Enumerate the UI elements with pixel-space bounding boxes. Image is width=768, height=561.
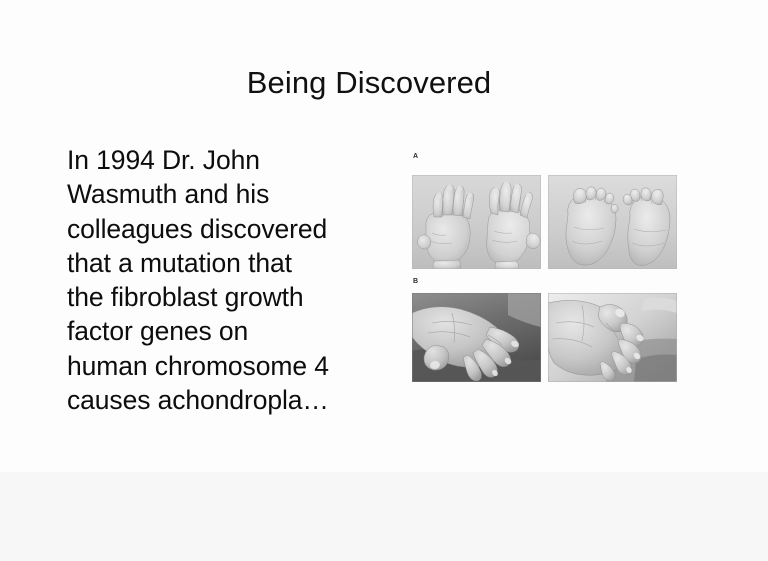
figure-photo-hand-closeup: [412, 293, 541, 382]
photo-hand-closeup-graphic: [412, 293, 541, 382]
figure-photo-feet-short-toes: [548, 175, 677, 269]
slide-title: Being Discovered: [0, 64, 738, 102]
photo-foot-closeup-graphic: [548, 293, 677, 382]
body-line: factor genes on: [67, 314, 387, 348]
body-line: colleagues discovered: [67, 212, 387, 246]
figure-photo-foot-closeup: [548, 293, 677, 382]
figure-row-label-b: B: [413, 278, 418, 286]
figure-row-label-a: A: [413, 153, 418, 161]
figure-row-b-panels: [412, 293, 677, 382]
figure-row-a-panels: [412, 175, 677, 269]
body-line: causes achondropla…: [67, 383, 387, 417]
figure-plate: A: [412, 150, 677, 383]
slide-canvas: Being Discovered In 1994 Dr. John Wasmut…: [0, 0, 768, 561]
figure-row-a: A: [412, 153, 677, 269]
figure-photo-hands-open-palms: [412, 175, 541, 269]
figure-row-b: B: [412, 278, 677, 388]
slide-body-text: In 1994 Dr. John Wasmuth and his colleag…: [67, 143, 387, 417]
body-line: In 1994 Dr. John: [67, 143, 387, 177]
photo-feet-short-toes-graphic: [548, 175, 677, 269]
slide-background-lower: [0, 472, 768, 561]
body-line: human chromosome 4: [67, 349, 387, 383]
photo-hands-open-palms-graphic: [412, 175, 541, 269]
body-line: the fibroblast growth: [67, 280, 387, 314]
body-line: Wasmuth and his: [67, 177, 387, 211]
body-line: that a mutation that: [67, 246, 387, 280]
